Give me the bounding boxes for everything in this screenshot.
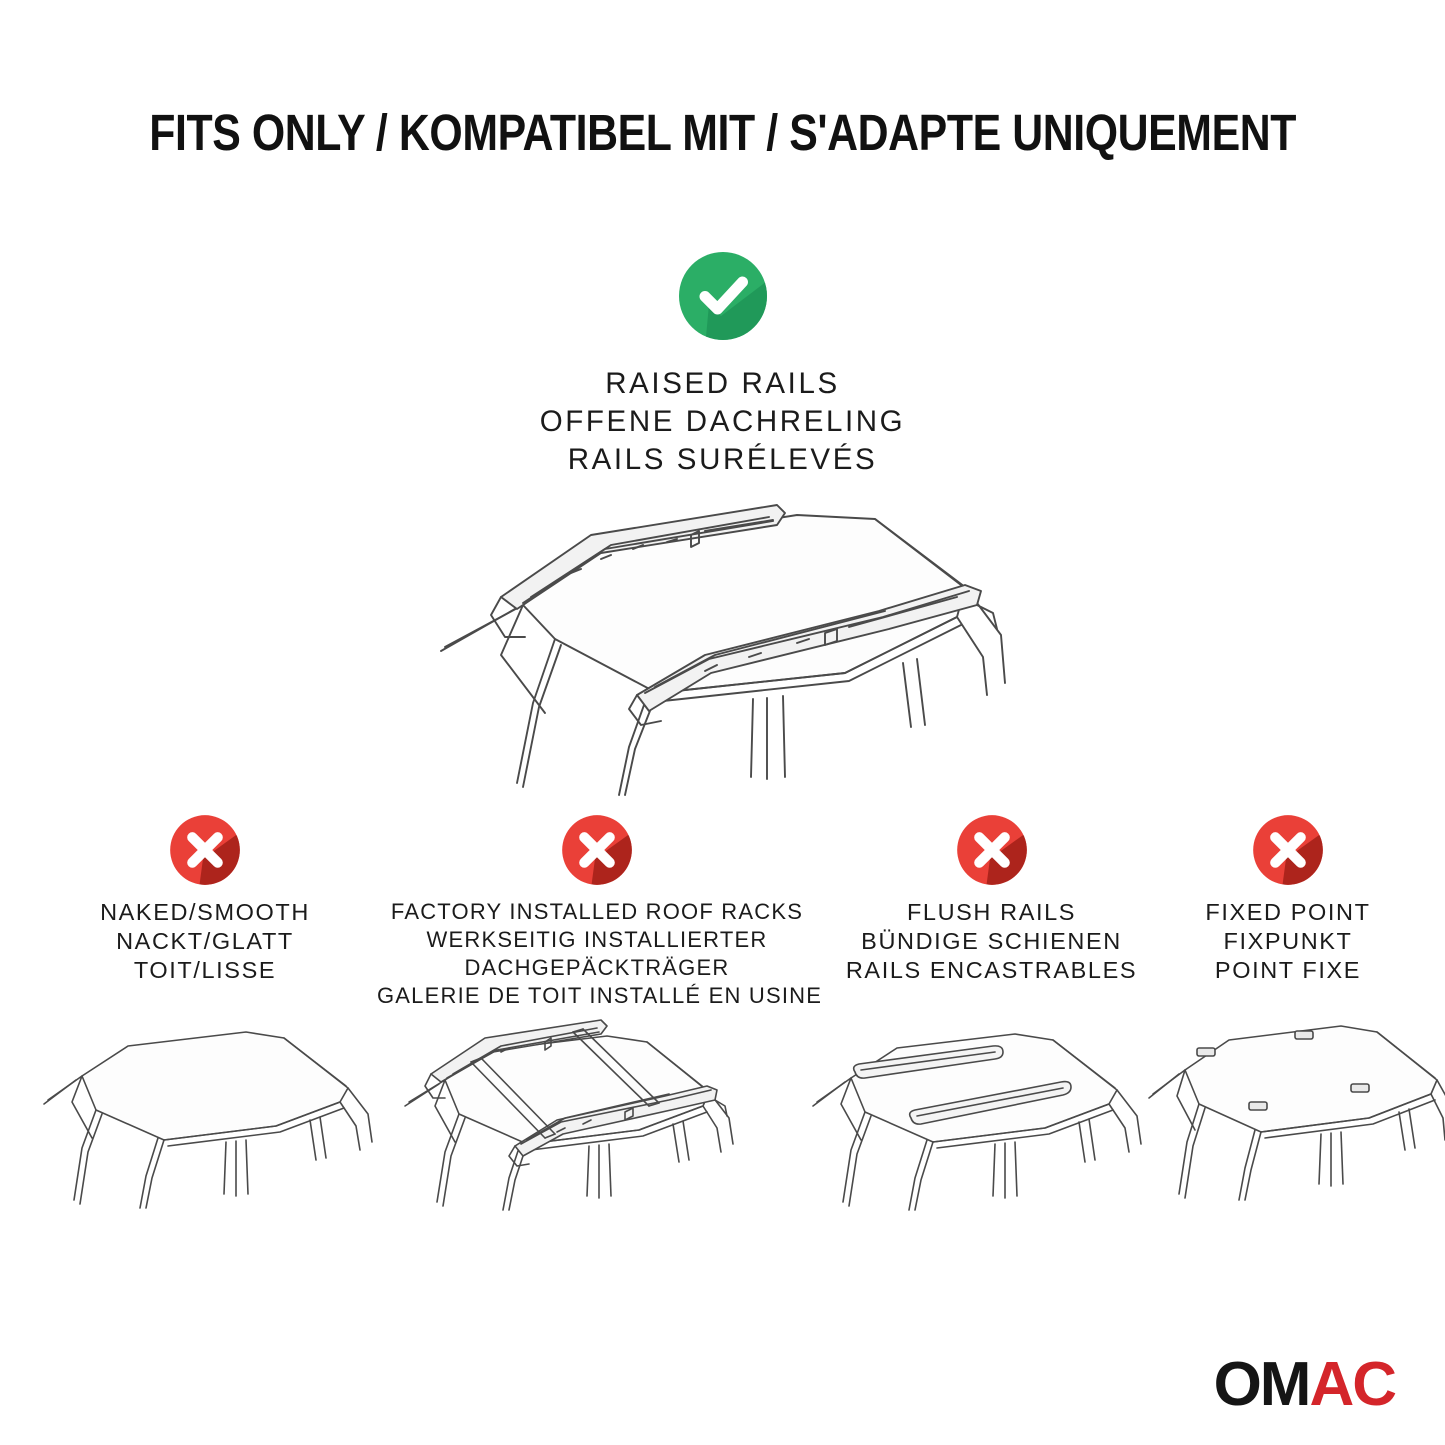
label-de-line2: DACHGEPÄCKTRÄGER	[377, 954, 817, 982]
car-roof-raised-rails-illustration	[405, 487, 1045, 797]
label-de: BÜNDIGE SCHIENEN	[823, 927, 1160, 956]
label-en: FACTORY INSTALLED ROOF RACKS	[377, 898, 817, 926]
car-roof-flush-rails-illustration	[789, 1008, 1159, 1238]
column-labels: FLUSH RAILS BÜNDIGE SCHIENEN RAILS ENCAS…	[823, 898, 1160, 985]
label-fr: TOIT/LISSE	[35, 956, 375, 985]
x-icon-wrap	[1163, 812, 1413, 898]
green-check-circle-icon	[675, 248, 771, 344]
car-roof-factory-roof-racks-illustration	[385, 1002, 745, 1240]
label-fr: RAILS ENCASTRABLES	[823, 956, 1160, 985]
incompatible-column-fixed-point: FIXED POINT FIXPUNKT POINT FIXE	[1163, 812, 1413, 985]
x-icon-wrap	[35, 812, 375, 898]
column-labels: FACTORY INSTALLED ROOF RACKS WERKSEITIG …	[377, 898, 817, 1010]
compatible-label-en: RAISED RAILS	[0, 365, 1445, 403]
label-de: FIXPUNKT	[1163, 927, 1413, 956]
logo-text-black: OM	[1214, 1350, 1310, 1419]
x-icon-wrap	[823, 812, 1160, 898]
incompatible-column-factory-roof-racks: FACTORY INSTALLED ROOF RACKS WERKSEITIG …	[377, 812, 817, 1010]
label-de-line1: WERKSEITIG INSTALLIERTER	[377, 926, 817, 954]
compatible-label-de: OFFENE DACHRELING	[0, 403, 1445, 441]
logo-text-red: AC	[1309, 1350, 1395, 1419]
column-labels: NAKED/SMOOTH NACKT/GLATT TOIT/LISSE	[35, 898, 375, 985]
car-roof-naked-smooth-illustration	[30, 1010, 380, 1240]
red-x-circle-icon	[559, 812, 635, 888]
column-labels: FIXED POINT FIXPUNKT POINT FIXE	[1163, 898, 1413, 985]
label-de: NACKT/GLATT	[35, 927, 375, 956]
compatible-label-fr: RAILS SURÉLEVÉS	[0, 441, 1445, 479]
label-fr: POINT FIXE	[1163, 956, 1413, 985]
page-title-text: FITS ONLY / KOMPATIBEL MIT / S'ADAPTE UN…	[149, 104, 1296, 162]
label-en: FLUSH RAILS	[823, 898, 1160, 927]
incompatible-section: NAKED/SMOOTH NACKT/GLATT TOIT/LISSE	[0, 812, 1445, 1332]
page-title: FITS ONLY / KOMPATIBEL MIT / S'ADAPTE UN…	[0, 104, 1445, 162]
incompatible-column-naked-smooth: NAKED/SMOOTH NACKT/GLATT TOIT/LISSE	[35, 812, 375, 985]
red-x-circle-icon	[1250, 812, 1326, 888]
label-en: NAKED/SMOOTH	[35, 898, 375, 927]
compatible-section: RAISED RAILS OFFENE DACHRELING RAILS SUR…	[0, 248, 1445, 479]
omac-logo: OMAC	[1214, 1353, 1395, 1417]
compatible-labels: RAISED RAILS OFFENE DACHRELING RAILS SUR…	[0, 365, 1445, 479]
incompatible-column-flush-rails: FLUSH RAILS BÜNDIGE SCHIENEN RAILS ENCAS…	[823, 812, 1160, 985]
car-roof-fixed-point-illustration	[1145, 1008, 1445, 1238]
red-x-circle-icon	[167, 812, 243, 888]
label-en: FIXED POINT	[1163, 898, 1413, 927]
x-icon-wrap	[377, 812, 817, 898]
red-x-circle-icon	[954, 812, 1030, 888]
